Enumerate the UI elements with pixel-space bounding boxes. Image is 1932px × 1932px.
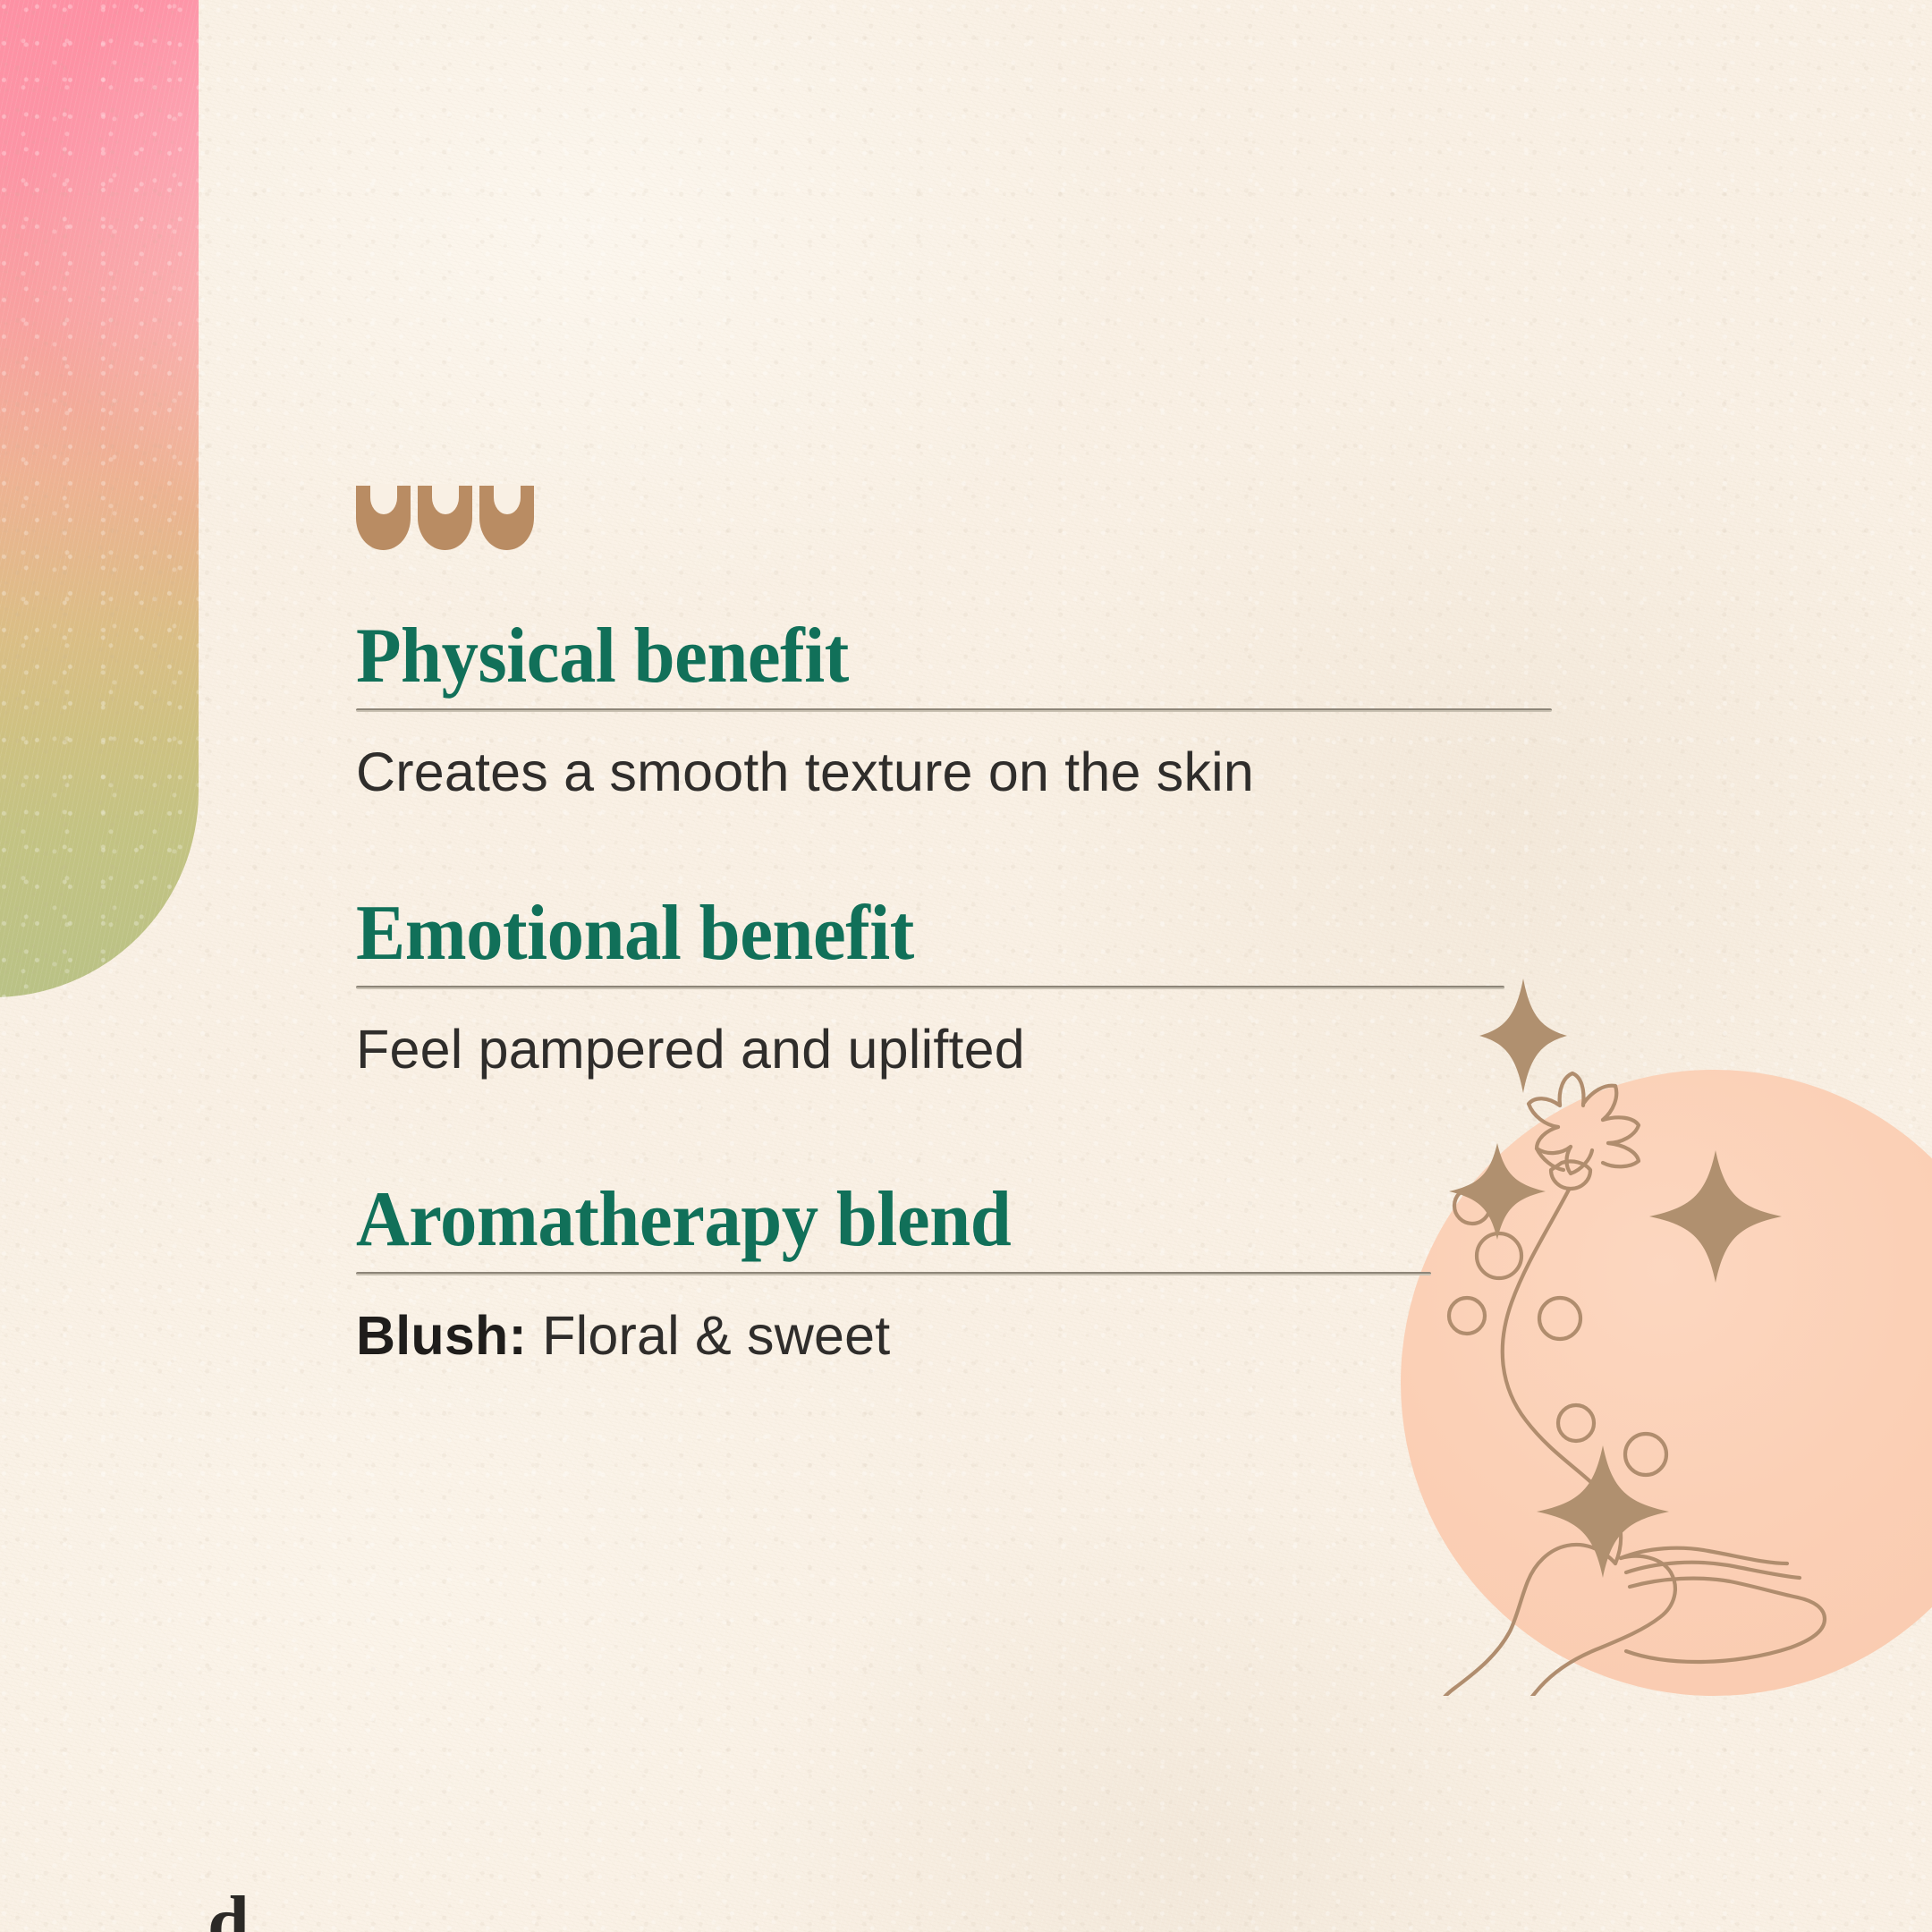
sparkle-icon	[1449, 1143, 1546, 1240]
petal-icon	[418, 486, 472, 550]
bubble	[1558, 1405, 1594, 1441]
hand-finger	[1626, 1563, 1800, 1578]
scent-description: Floral & sweet	[527, 1305, 890, 1366]
aromatherapy-blend-text: Blush: Floral & sweet	[356, 1275, 1431, 1368]
flower-petal	[1583, 1086, 1616, 1120]
flower-petal	[1537, 1127, 1571, 1153]
three-petal-motif	[356, 486, 534, 550]
emotional-benefit-heading: Emotional benefit	[356, 894, 1436, 973]
hand-palm-edge	[1513, 1556, 1675, 1696]
illustration-linework	[1401, 1070, 1932, 1696]
poster-canvas: Physical benefit Creates a smooth textur…	[0, 0, 1932, 1932]
benefit-block-aromatherapy: Aromatherapy blend Blush: Floral & sweet	[356, 1181, 1431, 1368]
flower-petal	[1603, 1143, 1639, 1166]
aromatherapy-blend-heading: Aromatherapy blend	[356, 1181, 1367, 1259]
bubble	[1449, 1298, 1485, 1334]
flower-petal	[1603, 1117, 1639, 1143]
scent-name-label: Blush:	[356, 1305, 527, 1366]
sparkle-group	[1449, 1143, 1782, 1578]
side-gradient-strip	[0, 0, 199, 997]
petal-icon	[479, 486, 534, 550]
hand-thumb-edge	[1433, 1545, 1615, 1696]
emotional-benefit-text: Feel pampered and uplifted	[356, 989, 1504, 1082]
hand-finger	[1630, 1579, 1798, 1597]
hand-fingertips-edge	[1626, 1597, 1825, 1662]
flower-petal	[1529, 1098, 1560, 1127]
petal-icon	[356, 486, 411, 550]
bubble	[1539, 1298, 1580, 1339]
benefit-block-emotional: Emotional benefit Feel pampered and upli…	[356, 894, 1504, 1082]
bubble	[1625, 1434, 1666, 1475]
sparkle-icon	[1649, 1150, 1782, 1283]
bottom-cutoff-text: d	[208, 1885, 250, 1932]
physical-benefit-text: Creates a smooth texture on the skin	[356, 712, 1552, 805]
physical-benefit-heading: Physical benefit	[356, 617, 1480, 696]
benefit-block-physical: Physical benefit Creates a smooth textur…	[356, 617, 1552, 805]
hand-holding-flower-illustration	[1401, 1070, 1932, 1696]
bubble	[1477, 1233, 1521, 1278]
